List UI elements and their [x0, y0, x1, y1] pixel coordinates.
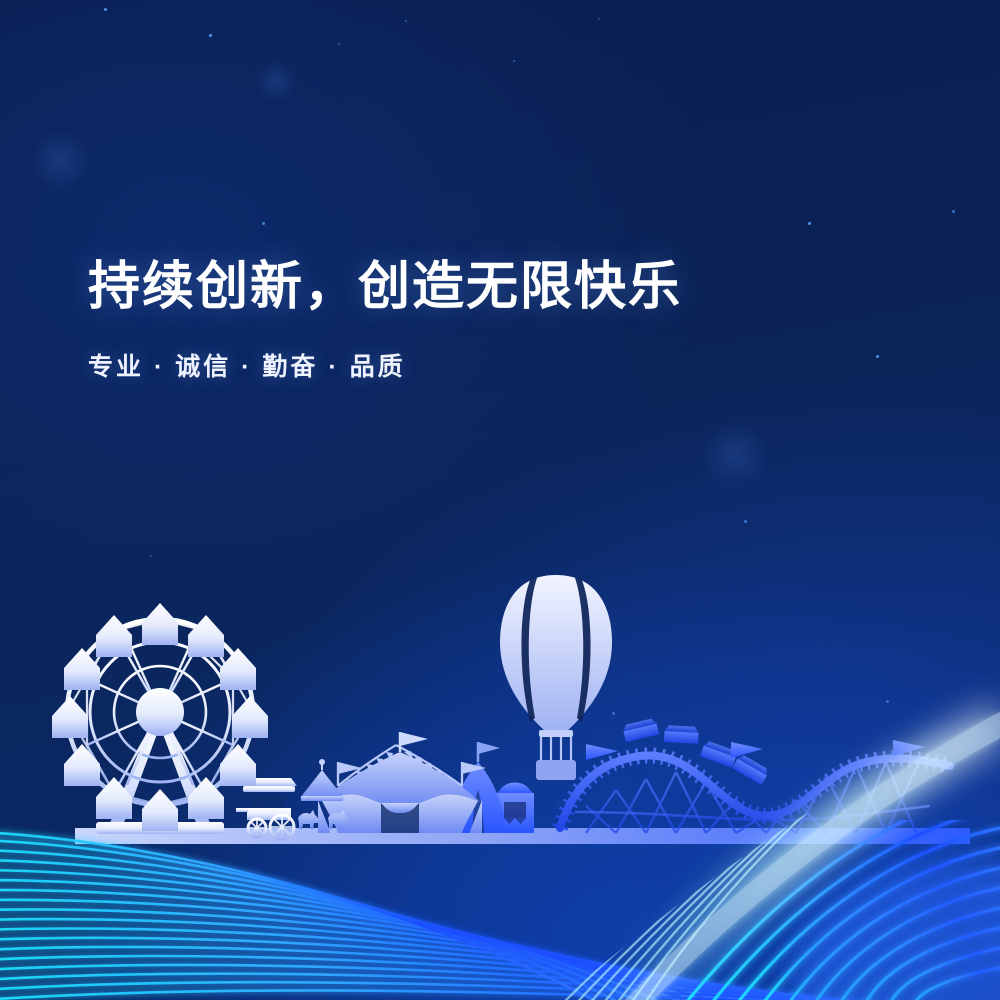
star-dot — [262, 222, 265, 225]
hot-air-balloon — [500, 575, 612, 780]
star-dot — [744, 520, 747, 523]
ferris-wheel — [52, 603, 268, 834]
star-dot — [612, 712, 615, 715]
star-dot — [338, 43, 340, 45]
text-block: 持续创新，创造无限快乐 专业 · 诚信 · 勤奋 · 品质 — [88, 258, 848, 382]
glow-blob — [700, 420, 770, 490]
wave-crest-highlight — [588, 700, 1000, 1000]
page-subtitle: 专业 · 诚信 · 勤奋 · 品质 — [88, 316, 848, 382]
glow-blob — [255, 60, 297, 102]
carousel-horse — [298, 810, 348, 829]
roller-coaster — [560, 718, 950, 833]
circus-tent-large — [318, 732, 486, 833]
star-dot — [150, 555, 152, 557]
star-dot — [209, 34, 212, 37]
star-dot — [104, 8, 107, 11]
glowing-wave-mesh — [0, 0, 1000, 1000]
circus-tent-small — [450, 742, 506, 833]
balloon-stripe — [521, 578, 590, 722]
starfield — [0, 0, 1000, 1000]
carousel — [298, 759, 348, 833]
food-cart — [236, 778, 297, 839]
star-dot — [876, 355, 879, 358]
star-dot — [405, 20, 407, 22]
star-dot — [808, 222, 811, 225]
ticket-booth — [496, 783, 534, 834]
star-dot — [952, 210, 955, 213]
bunting — [346, 751, 453, 788]
wave-cross-hatch — [290, 660, 1000, 1000]
star-dot — [598, 18, 600, 20]
amusement-park-illustration — [0, 0, 1000, 1000]
ground-strip — [75, 828, 970, 844]
coaster-flag — [586, 740, 893, 833]
wave-corner-bloom — [790, 860, 1000, 1000]
ferris-cabin — [52, 603, 268, 831]
page-title: 持续创新，创造无限快乐 — [88, 258, 848, 316]
star-dot — [886, 700, 889, 703]
banner-canvas: 持续创新，创造无限快乐 专业 · 诚信 · 勤奋 · 品质 — [0, 0, 1000, 1000]
glow-blob — [30, 130, 90, 190]
star-dot — [513, 60, 515, 62]
wave-line-group — [0, 786, 1000, 1000]
